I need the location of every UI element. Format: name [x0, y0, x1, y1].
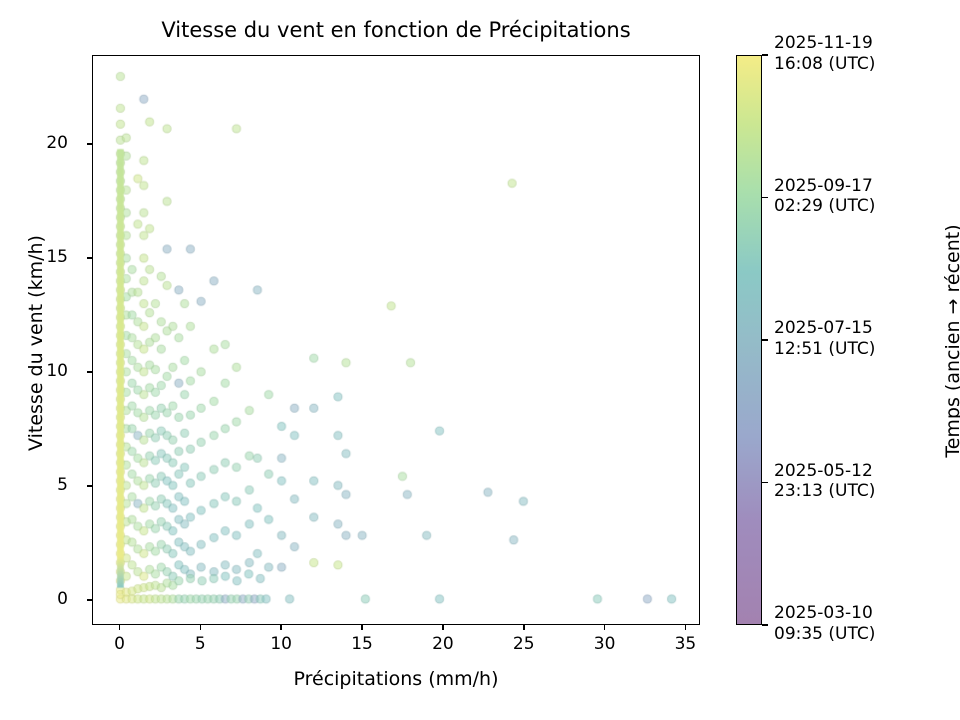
y-tick-mark: [87, 143, 92, 145]
y-tick-mark: [87, 257, 92, 259]
x-tick-mark: [442, 625, 444, 630]
colorbar-tick-time: 09:35 (UTC): [774, 624, 875, 645]
x-tick-mark: [119, 625, 121, 630]
colorbar-tick-label: 2025-05-1223:13 (UTC): [774, 461, 875, 502]
x-tick-label: 10: [251, 634, 311, 654]
colorbar-tick-label: 2025-03-1009:35 (UTC): [774, 603, 875, 644]
x-tick-label: 35: [655, 634, 715, 654]
x-axis-label: Précipitations (mm/h): [92, 668, 700, 690]
plot-area: [92, 55, 700, 625]
colorbar-tick-mark: [762, 339, 768, 341]
colorbar-tick-time: 02:29 (UTC): [774, 196, 875, 217]
colorbar-tick-date: 2025-03-10: [774, 603, 875, 624]
colorbar-tick-label: 2025-09-1702:29 (UTC): [774, 176, 875, 217]
colorbar-tick-date: 2025-05-12: [774, 461, 875, 482]
y-tick-mark: [87, 485, 92, 487]
x-tick-mark: [280, 625, 282, 630]
colorbar-tick-label: 2025-07-1512:51 (UTC): [774, 318, 875, 359]
x-tick-mark: [604, 625, 606, 630]
colorbar-tick-time: 16:08 (UTC): [774, 54, 875, 75]
colorbar-tick-mark: [762, 197, 768, 199]
colorbar-gradient: [737, 56, 761, 624]
x-tick-mark: [685, 625, 687, 630]
x-tick-mark: [361, 625, 363, 630]
x-tick-mark: [200, 625, 202, 630]
x-tick-label: 25: [494, 634, 554, 654]
x-tick-mark: [523, 625, 525, 630]
y-tick-label: 0: [8, 589, 68, 609]
colorbar-tick-time: 12:51 (UTC): [774, 339, 875, 360]
colorbar-tick-mark: [762, 624, 768, 626]
scatter-points-canvas: [93, 56, 699, 624]
chart-title: Vitesse du vent en fonction de Précipita…: [92, 18, 700, 42]
x-tick-label: 5: [170, 634, 230, 654]
colorbar-tick-mark: [762, 482, 768, 484]
x-tick-label: 15: [332, 634, 392, 654]
x-tick-label: 0: [89, 634, 149, 654]
colorbar-tick-date: 2025-07-15: [774, 318, 875, 339]
colorbar-label: Temps (ancien → récent): [942, 181, 960, 501]
y-tick-mark: [87, 371, 92, 373]
colorbar: [736, 55, 762, 625]
colorbar-tick-date: 2025-11-19: [774, 33, 875, 54]
scatter-chart-figure: Vitesse du vent en fonction de Précipita…: [0, 0, 960, 720]
colorbar-tick-mark: [762, 54, 768, 56]
y-tick-label: 20: [8, 133, 68, 153]
colorbar-tick-time: 23:13 (UTC): [774, 481, 875, 502]
colorbar-tick-label: 2025-11-1916:08 (UTC): [774, 33, 875, 74]
y-tick-mark: [87, 599, 92, 601]
x-tick-label: 20: [413, 634, 473, 654]
y-axis-label: Vitesse du vent (km/h): [25, 203, 47, 483]
colorbar-tick-date: 2025-09-17: [774, 176, 875, 197]
x-tick-label: 30: [575, 634, 635, 654]
